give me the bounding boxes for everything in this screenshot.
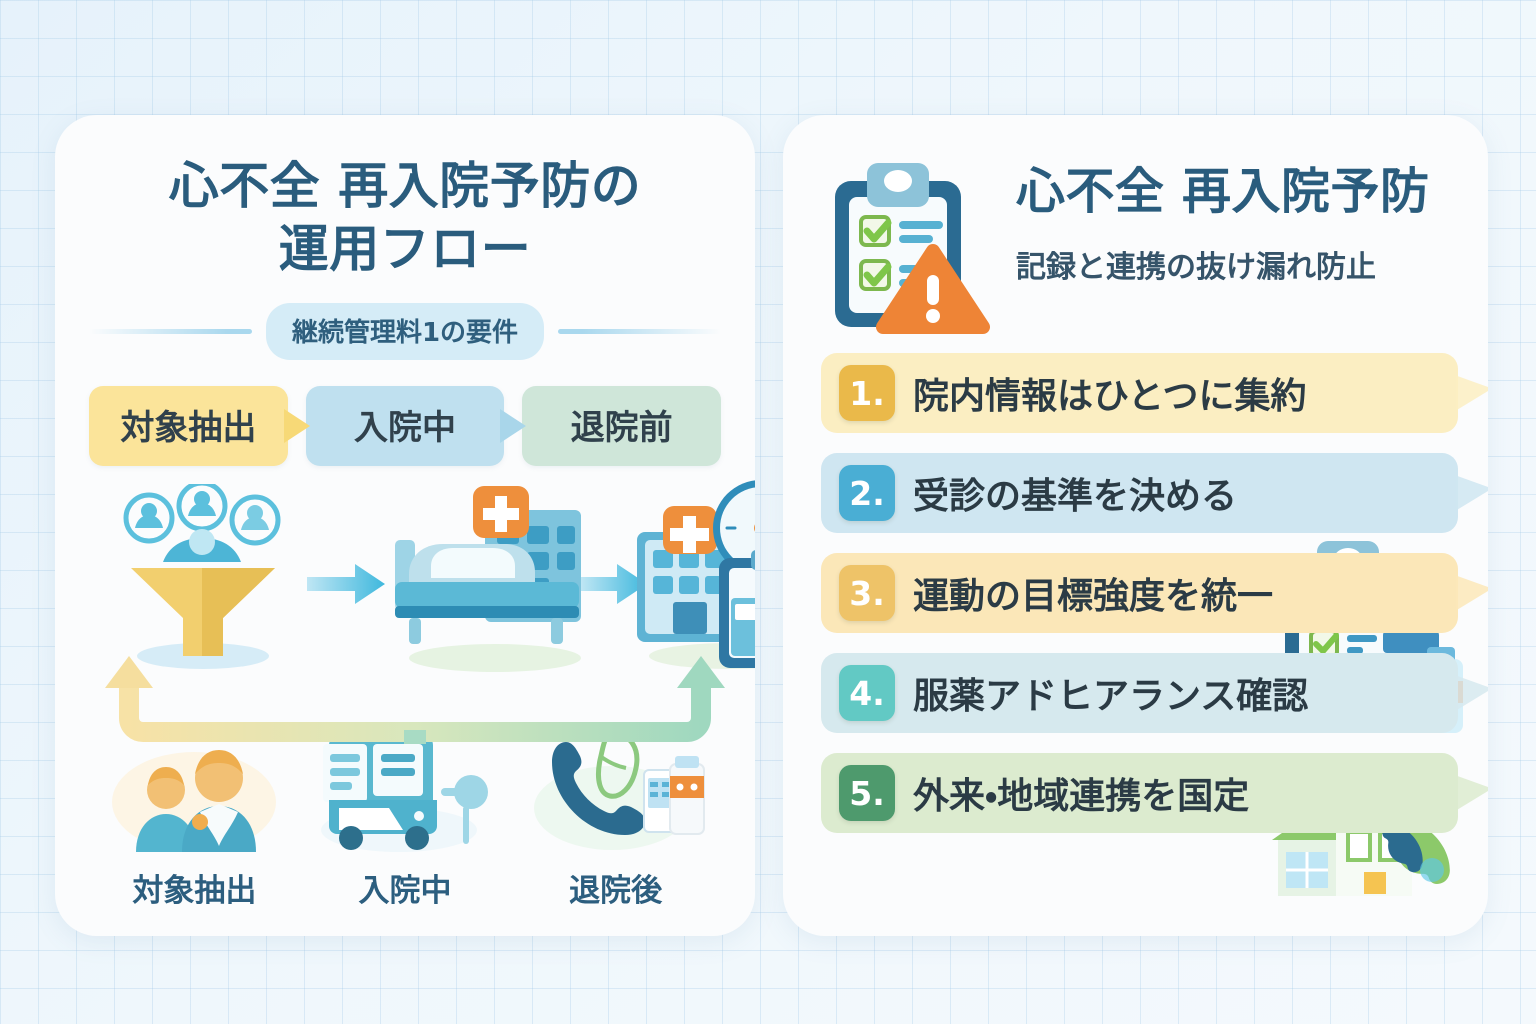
checklist: 1. 院内情報はひとつに集約 2. 受診の基準を決める 3. 運動の目標強度を統… [821,353,1458,833]
list-item-badge: 4. [839,665,895,721]
list-item-badge: 2. [839,465,895,521]
hospital-bed-icon [385,478,595,678]
phone-medicine-icon [516,730,716,855]
bottom-illustration-row [89,730,721,855]
list-item[interactable]: 4. 服薬アドヒアランス確認 [821,653,1458,733]
clipboard-warning-icon [821,155,996,339]
list-item-label: 服薬アドヒアランス確認 [913,667,1308,719]
feedback-loop-arrow-icon [89,650,721,736]
bottom-label-0: 対象抽出 [94,865,294,910]
divider-left [89,329,252,334]
right-panel-card: 心不全 再入院予防 記録と連携の抜け漏れ防止 [783,115,1488,936]
divider-right [558,329,721,334]
clock-clipboard-icon [631,470,755,675]
bottom-label-1: 入院中 [305,865,505,910]
list-item[interactable]: 5. 外来・地域連携を国定 [821,753,1458,833]
bottom-label-2: 退院後 [516,865,716,910]
flow-chip-2[interactable]: 退院前 [522,386,721,466]
subtitle-badge: 継続管理料1の要件 [266,303,544,360]
bottom-label-row: 対象抽出 入院中 退院後 [89,865,721,910]
funnel-people-icon [107,484,297,674]
page-title: 心不全 再入院予防の 運用フロー [89,155,721,281]
infographic-stage: 心不全 再入院予防の 運用フロー 継続管理料1の要件 対象抽出 入院中 退院前 [0,0,1536,1024]
list-item[interactable]: 3. 運動の目標強度を統一 [821,553,1458,633]
two-people-consult-icon [94,730,294,855]
flow-chip-1[interactable]: 入院中 [306,386,505,466]
list-item[interactable]: 1. 院内情報はひとつに集約 [821,353,1458,433]
left-panel-card: 心不全 再入院予防の 運用フロー 継続管理料1の要件 対象抽出 入院中 退院前 [55,115,755,936]
left-title-line1: 心不全 再入院予防の [89,155,721,218]
right-panel-subtitle: 記録と連携の抜け漏れ防止 [1016,242,1458,286]
flow-illustration-band [89,478,721,654]
list-item-badge: 5. [839,765,895,821]
list-item-label: 運動の目標強度を統一 [913,567,1273,619]
right-header: 心不全 再入院予防 記録と連携の抜け漏れ防止 [821,155,1458,345]
flow-chip-row: 対象抽出 入院中 退院前 [89,386,721,466]
list-item-badge: 1. [839,365,895,421]
right-panel-title: 心不全 再入院予防 [1016,165,1458,220]
flow-arrow-1-icon [500,409,526,443]
list-item-label: 院内情報はひとつに集約 [913,367,1306,419]
list-item-label: 受診の基準を決める [913,467,1237,519]
subtitle-row: 継続管理料1の要件 [89,303,721,360]
flow-arrow-0-icon [284,409,310,443]
list-item-label: 外来・地域連携を国定 [913,767,1249,819]
document-cart-icon [305,730,505,855]
list-item-badge: 3. [839,565,895,621]
list-item[interactable]: 2. 受診の基準を決める [821,453,1458,533]
illus-arrow-0-icon [307,562,387,606]
flow-chip-0[interactable]: 対象抽出 [89,386,288,466]
left-title-line2: 運用フロー [89,218,721,281]
